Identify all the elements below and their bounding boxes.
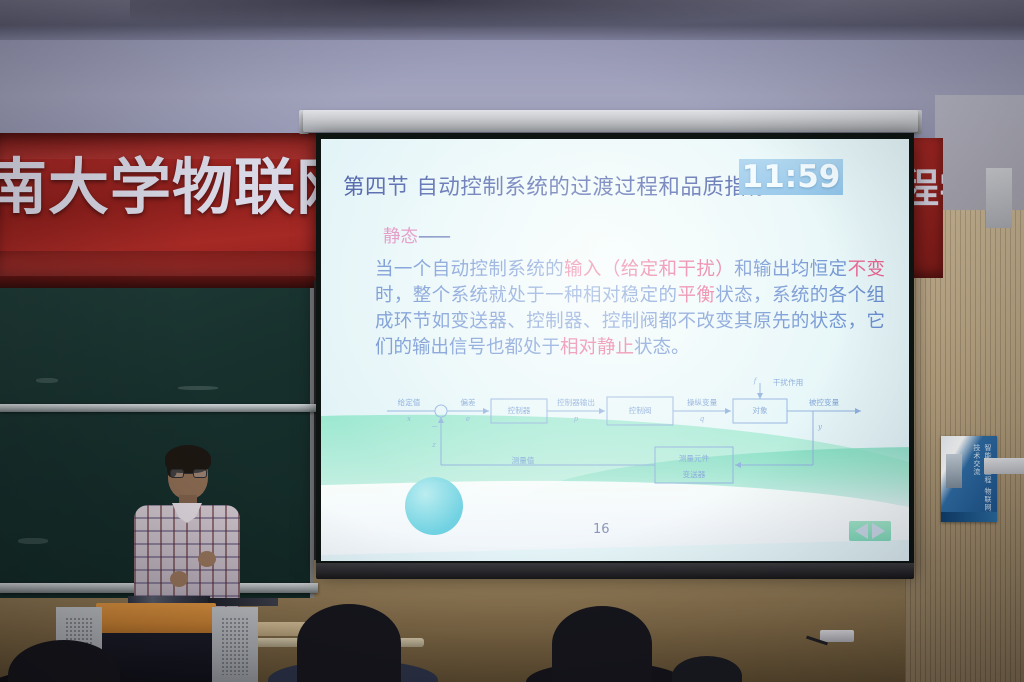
wall-panel-box bbox=[986, 168, 1012, 228]
svg-text:变送器: 变送器 bbox=[683, 469, 706, 479]
svg-text:z: z bbox=[431, 441, 436, 449]
clock-time: 11:59 bbox=[742, 159, 841, 195]
slide-subheading-dash: —— bbox=[418, 227, 449, 247]
lectern-equipment-2 bbox=[208, 598, 278, 606]
svg-text:被控变量: 被控变量 bbox=[809, 397, 840, 407]
svg-text:控制器输出: 控制器输出 bbox=[557, 397, 595, 407]
chalk-rail-upper bbox=[0, 404, 318, 412]
slide-surface: 第四节 自动控制系统的过渡过程和品质指标 11:59 静态—— 当一个自动控制系… bbox=[321, 139, 909, 561]
slide-body-segment-4: 时，整个系统就处于一种相对稳定的 bbox=[375, 285, 677, 306]
svg-text:e: e bbox=[466, 415, 470, 423]
audience-head-2 bbox=[297, 604, 401, 682]
svg-text:偏差: 偏差 bbox=[460, 397, 476, 407]
svg-text:测量值: 测量值 bbox=[512, 455, 535, 465]
svg-text:－: － bbox=[431, 423, 438, 431]
svg-text:控制器: 控制器 bbox=[508, 405, 531, 415]
triangle-left-icon[interactable] bbox=[855, 523, 868, 539]
lecture-hall-photo: 南大学物联网工 程学 ▪ ▫▫▫ 第四节 自动控制系统的过渡过程和品质指标 11… bbox=[0, 0, 1024, 682]
lectern-top bbox=[96, 603, 216, 635]
svg-text:y: y bbox=[817, 423, 823, 431]
slide-subheading: 静态—— bbox=[383, 223, 449, 248]
lectern-speaker-right bbox=[212, 607, 258, 682]
audience-head-3 bbox=[552, 606, 652, 682]
svg-text:p: p bbox=[574, 415, 579, 423]
svg-text:q: q bbox=[700, 415, 705, 423]
screen-bottom-weight-bar bbox=[316, 563, 914, 579]
microphone-clamp bbox=[820, 630, 854, 642]
wall-strip bbox=[984, 458, 1024, 474]
svg-text:测量元件: 测量元件 bbox=[679, 453, 710, 463]
slide-body-segment-7: 相对静止 bbox=[560, 337, 634, 358]
slide-subheading-text: 静态 bbox=[383, 227, 418, 247]
presenter-hand-left bbox=[170, 571, 188, 587]
svg-text:控制阀: 控制阀 bbox=[629, 405, 652, 415]
slide-body-segment-8: 状态。 bbox=[634, 337, 690, 358]
svg-text:操纵变量: 操纵变量 bbox=[687, 397, 718, 407]
banner-left-text: 南大学物联网工 bbox=[0, 157, 324, 218]
slide-body-segment-3: 不变 bbox=[848, 259, 885, 280]
slide-body-segment-1: 输入（给定和干扰） bbox=[564, 259, 734, 280]
screen-roller-casing: ▪ ▫▫▫ bbox=[303, 110, 918, 132]
slide-deco-circle bbox=[405, 477, 463, 535]
wall-poster-text: 智能化工程 物联网新 技术交流 bbox=[971, 444, 993, 522]
svg-text:对象: 对象 bbox=[752, 405, 768, 415]
slide-body-segment-5: 平衡 bbox=[677, 285, 715, 306]
red-banner-left: 南大学物联网工 bbox=[0, 133, 324, 281]
presenter-hand-right bbox=[198, 551, 216, 567]
wall-poster: 智能化工程 物联网新 技术交流 bbox=[941, 436, 997, 522]
svg-text:给定值: 给定值 bbox=[398, 397, 421, 407]
slide-nav-controls[interactable] bbox=[849, 521, 891, 541]
svg-text:干扰作用: 干扰作用 bbox=[773, 377, 803, 387]
triangle-right-icon[interactable] bbox=[872, 523, 885, 539]
presenter bbox=[132, 443, 242, 618]
slide-page-number: 16 bbox=[593, 522, 610, 537]
slide-body-segment-2: 和输出均恒定 bbox=[734, 259, 847, 280]
control-loop-block-diagram: 给定值 x 偏差 e 控制器 控制器输出 p 控制阀 操纵变量 q 对象 被控变… bbox=[383, 377, 865, 485]
slide-title: 第四节 自动控制系统的过渡过程和品质指标 bbox=[343, 170, 768, 201]
glasses-icon bbox=[170, 469, 207, 478]
svg-text:f: f bbox=[753, 377, 758, 385]
slide-body-segment-0: 当一个自动控制系统的 bbox=[375, 259, 564, 280]
clock-overlay: 11:59 bbox=[739, 159, 843, 195]
svg-text:x: x bbox=[407, 415, 411, 423]
projection-screen: 第四节 自动控制系统的过渡过程和品质指标 11:59 静态—— 当一个自动控制系… bbox=[316, 133, 914, 571]
slide-body-text: 当一个自动控制系统的输入（给定和干扰）和输出均恒定不变时，整个系统就处于一种相对… bbox=[375, 257, 885, 361]
